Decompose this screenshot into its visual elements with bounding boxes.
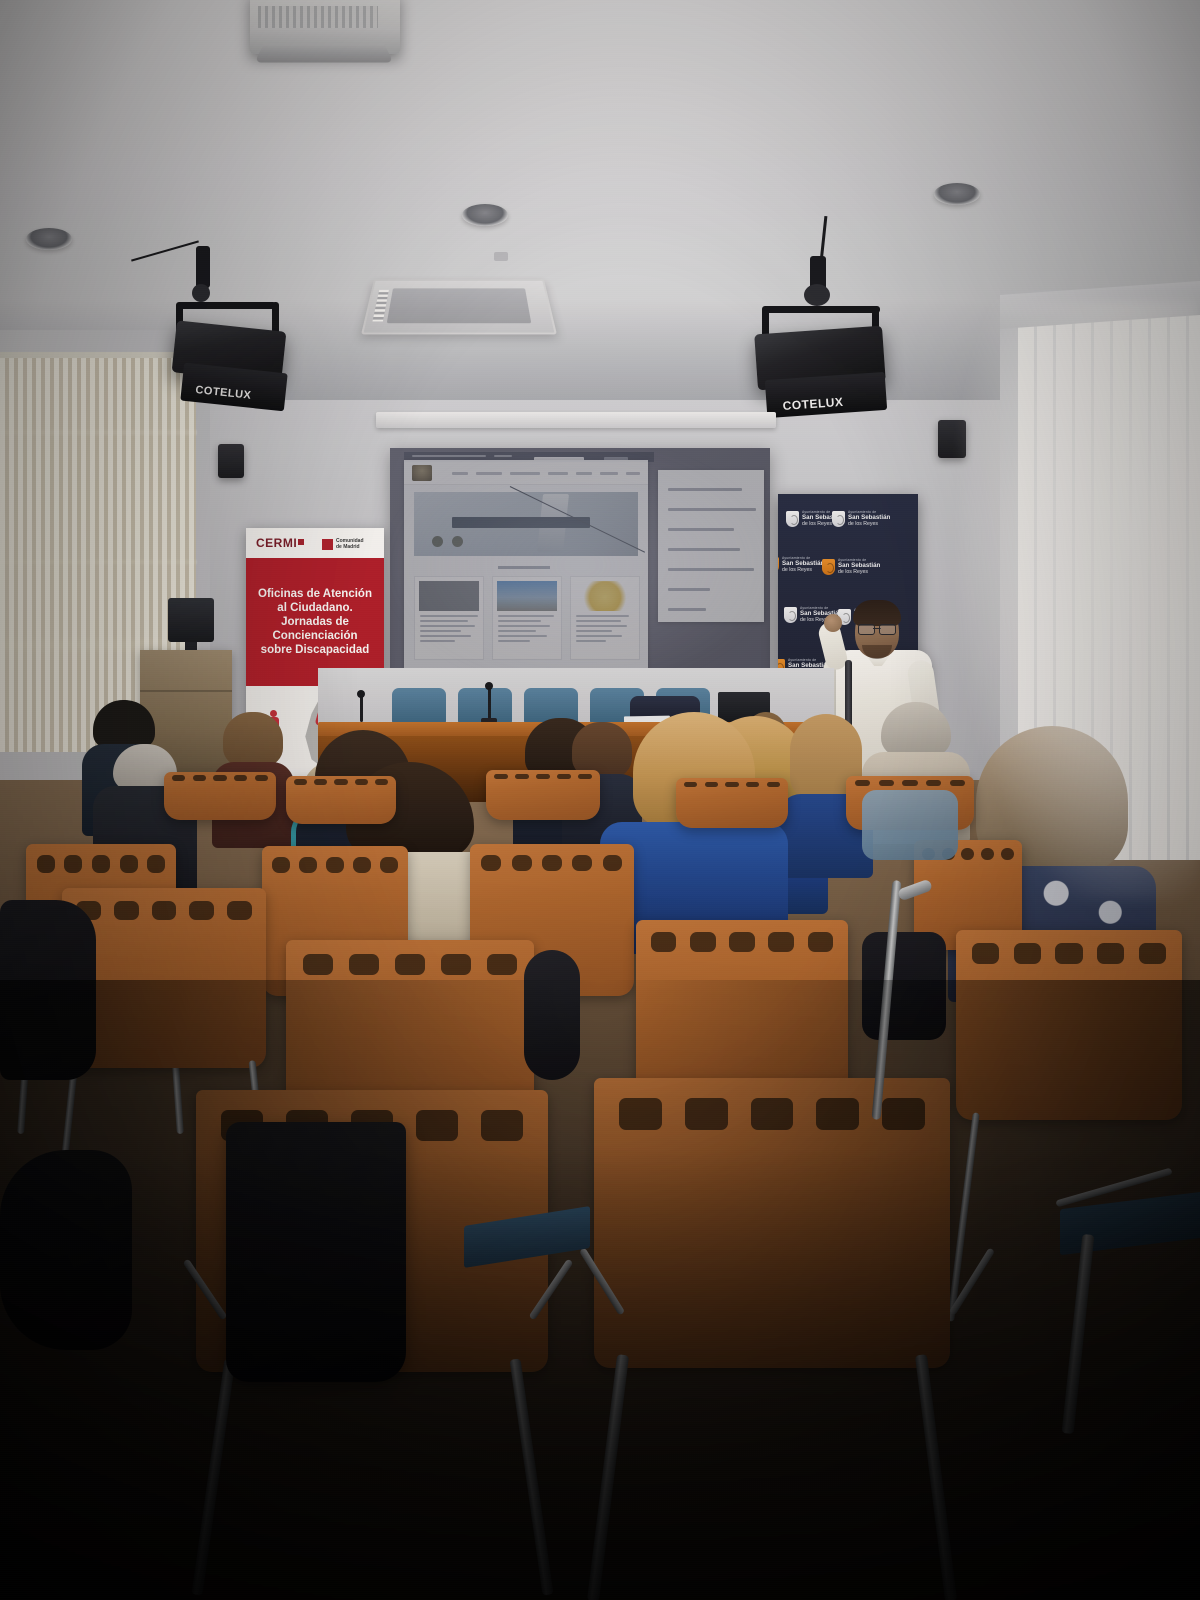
slide-card-text bbox=[576, 615, 634, 645]
chair-back-slots bbox=[494, 774, 592, 780]
slide-bullet-line bbox=[668, 528, 734, 531]
light-yoke-top bbox=[762, 306, 880, 313]
stage-light-right: COTELUX bbox=[744, 250, 894, 430]
ssr-logo-line2: de los Reyes bbox=[848, 521, 890, 527]
slide-topbar-text bbox=[412, 455, 486, 457]
light-hook bbox=[196, 246, 210, 288]
chair-back-slots bbox=[76, 901, 251, 921]
slide-nav-item bbox=[476, 472, 502, 475]
ssr-shield-icon bbox=[822, 559, 835, 575]
slide-news-card bbox=[414, 576, 484, 660]
speaker-hand bbox=[824, 614, 842, 632]
projector-vent bbox=[258, 6, 378, 28]
slide-section-heading bbox=[498, 566, 550, 569]
cotelux-brand-label: COTELUX bbox=[782, 395, 844, 413]
ssr-logo-line1: San Sebastián bbox=[838, 562, 880, 569]
chair-back-slots bbox=[972, 943, 1166, 964]
floor-shadow bbox=[0, 980, 1200, 1600]
slide-nav-item bbox=[576, 472, 592, 475]
slide-news-card bbox=[570, 576, 640, 660]
cotelux-brand-label: COTELUX bbox=[195, 384, 252, 402]
slide-card-text bbox=[420, 615, 478, 645]
light-front: COTELUX bbox=[765, 372, 887, 418]
rollup-headline-line: Jornadas de bbox=[281, 615, 349, 629]
downlight-icon bbox=[462, 204, 508, 226]
ssr-shield-icon bbox=[784, 607, 797, 623]
slide-topbar-text bbox=[494, 455, 512, 457]
light-knob bbox=[804, 284, 830, 306]
comunidad-madrid-line2: de Madrid bbox=[336, 544, 364, 550]
glasses-icon bbox=[858, 624, 896, 633]
slide-site-logo bbox=[412, 465, 432, 481]
microphone-head-icon bbox=[485, 682, 493, 690]
gooseneck-microphone bbox=[488, 686, 491, 722]
slide-bullet-line bbox=[668, 568, 754, 571]
sprinkler-icon bbox=[494, 252, 508, 261]
slide-news-card bbox=[492, 576, 562, 660]
downlight-icon bbox=[26, 228, 72, 250]
ssr-logo-line1: San Sebastián bbox=[782, 560, 824, 567]
wall-speaker-left bbox=[218, 444, 244, 478]
cermi-logo-text: CERMI bbox=[256, 536, 297, 550]
slide-card-thumbnail bbox=[575, 581, 635, 611]
slide-bullet-panel bbox=[658, 470, 764, 622]
partition-frame bbox=[0, 352, 196, 358]
cabinet-seam bbox=[140, 690, 232, 692]
chair-back-slots bbox=[684, 782, 780, 788]
person-hair bbox=[223, 712, 283, 766]
slide-card-thumbnail bbox=[497, 581, 557, 611]
ssr-logo: Ayuntamiento deSan Sebastiánde los Reyes bbox=[822, 558, 880, 575]
chair-back-slots bbox=[855, 780, 965, 786]
screen-housing bbox=[376, 412, 776, 428]
slide-bullet-line bbox=[668, 488, 742, 491]
audience-chair bbox=[676, 778, 788, 828]
monitor-icon bbox=[168, 598, 214, 642]
rollup-headline: Oficinas de Atención al Ciudadano. Jorna… bbox=[246, 558, 384, 686]
slide-nav-item bbox=[548, 472, 568, 475]
audience-chair bbox=[164, 772, 276, 820]
presidium-chair bbox=[392, 688, 446, 724]
audience-chair bbox=[286, 776, 396, 824]
slide-bullet-line bbox=[668, 588, 710, 591]
ssr-logo: Ayuntamiento deSan Sebastiánde los Reyes bbox=[778, 556, 824, 573]
slide-card-text bbox=[498, 615, 556, 645]
ssr-logo-line2: de los Reyes bbox=[838, 569, 880, 575]
chair-back-slots bbox=[294, 779, 389, 784]
downlight-icon bbox=[934, 183, 980, 205]
ssr-shield-icon bbox=[778, 557, 779, 573]
rollup-headline-line: Concienciación bbox=[273, 629, 358, 643]
slide-hero-dot bbox=[452, 536, 463, 547]
slide-nav-item bbox=[452, 472, 468, 475]
cermi-logo: CERMI bbox=[256, 536, 304, 550]
slide-nav-item bbox=[626, 472, 640, 475]
slide-nav-item bbox=[510, 472, 540, 475]
conference-room-photo: COTELUX COTELUX bbox=[0, 0, 1200, 1600]
light-knob bbox=[192, 284, 210, 302]
slide-card-thumbnail bbox=[419, 581, 479, 611]
air-conditioner-vent bbox=[361, 279, 557, 334]
rollup-logo-strip: CERMI Comunidad de Madrid bbox=[246, 528, 384, 558]
chair-back-slots bbox=[172, 775, 268, 780]
gooseneck-microphone bbox=[360, 694, 363, 722]
chair-back-slots bbox=[481, 855, 622, 872]
ssr-shield-icon bbox=[786, 511, 799, 527]
monitor-stand bbox=[185, 642, 197, 650]
slide-nav-item bbox=[600, 472, 618, 475]
garment-on-chair bbox=[862, 790, 958, 860]
rollup-headline-line: Oficinas de Atención bbox=[258, 587, 372, 601]
slide-hero-caption bbox=[452, 517, 590, 528]
window-bloom bbox=[960, 300, 1200, 900]
slide-bullet-line bbox=[668, 548, 740, 551]
comunidad-madrid-logo: Comunidad de Madrid bbox=[322, 538, 364, 551]
person-hair bbox=[93, 700, 155, 748]
chair-back-slots bbox=[272, 857, 398, 874]
projection-screen bbox=[390, 448, 770, 680]
light-yoke-top bbox=[176, 302, 276, 309]
ssr-logo: Ayuntamiento deSan Sebastiánde los Reyes bbox=[832, 510, 890, 527]
rollup-headline-line: sobre Discapacidad bbox=[261, 643, 370, 657]
projected-slide bbox=[390, 448, 770, 680]
person-hair bbox=[881, 702, 951, 756]
stage-light-left: COTELUX bbox=[168, 244, 298, 424]
ssr-logo-line2: de los Reyes bbox=[782, 567, 824, 573]
speaker-hair bbox=[853, 600, 901, 626]
chair-back-slots bbox=[303, 954, 516, 976]
chair-back-slots bbox=[651, 932, 833, 951]
rollup-headline-line: al Ciudadano. bbox=[277, 601, 352, 615]
ssr-logo-line1: San Sebastián bbox=[848, 514, 890, 521]
audience-chair bbox=[486, 770, 600, 820]
slide-bullet-line bbox=[668, 608, 706, 611]
microphone-head-icon bbox=[357, 690, 365, 698]
comunidad-madrid-mark bbox=[322, 539, 333, 550]
ssr-shield-icon bbox=[832, 511, 845, 527]
chair-back-slots bbox=[37, 855, 166, 873]
slide-bullet-line bbox=[668, 508, 756, 511]
slide-hero-dot bbox=[432, 536, 443, 547]
